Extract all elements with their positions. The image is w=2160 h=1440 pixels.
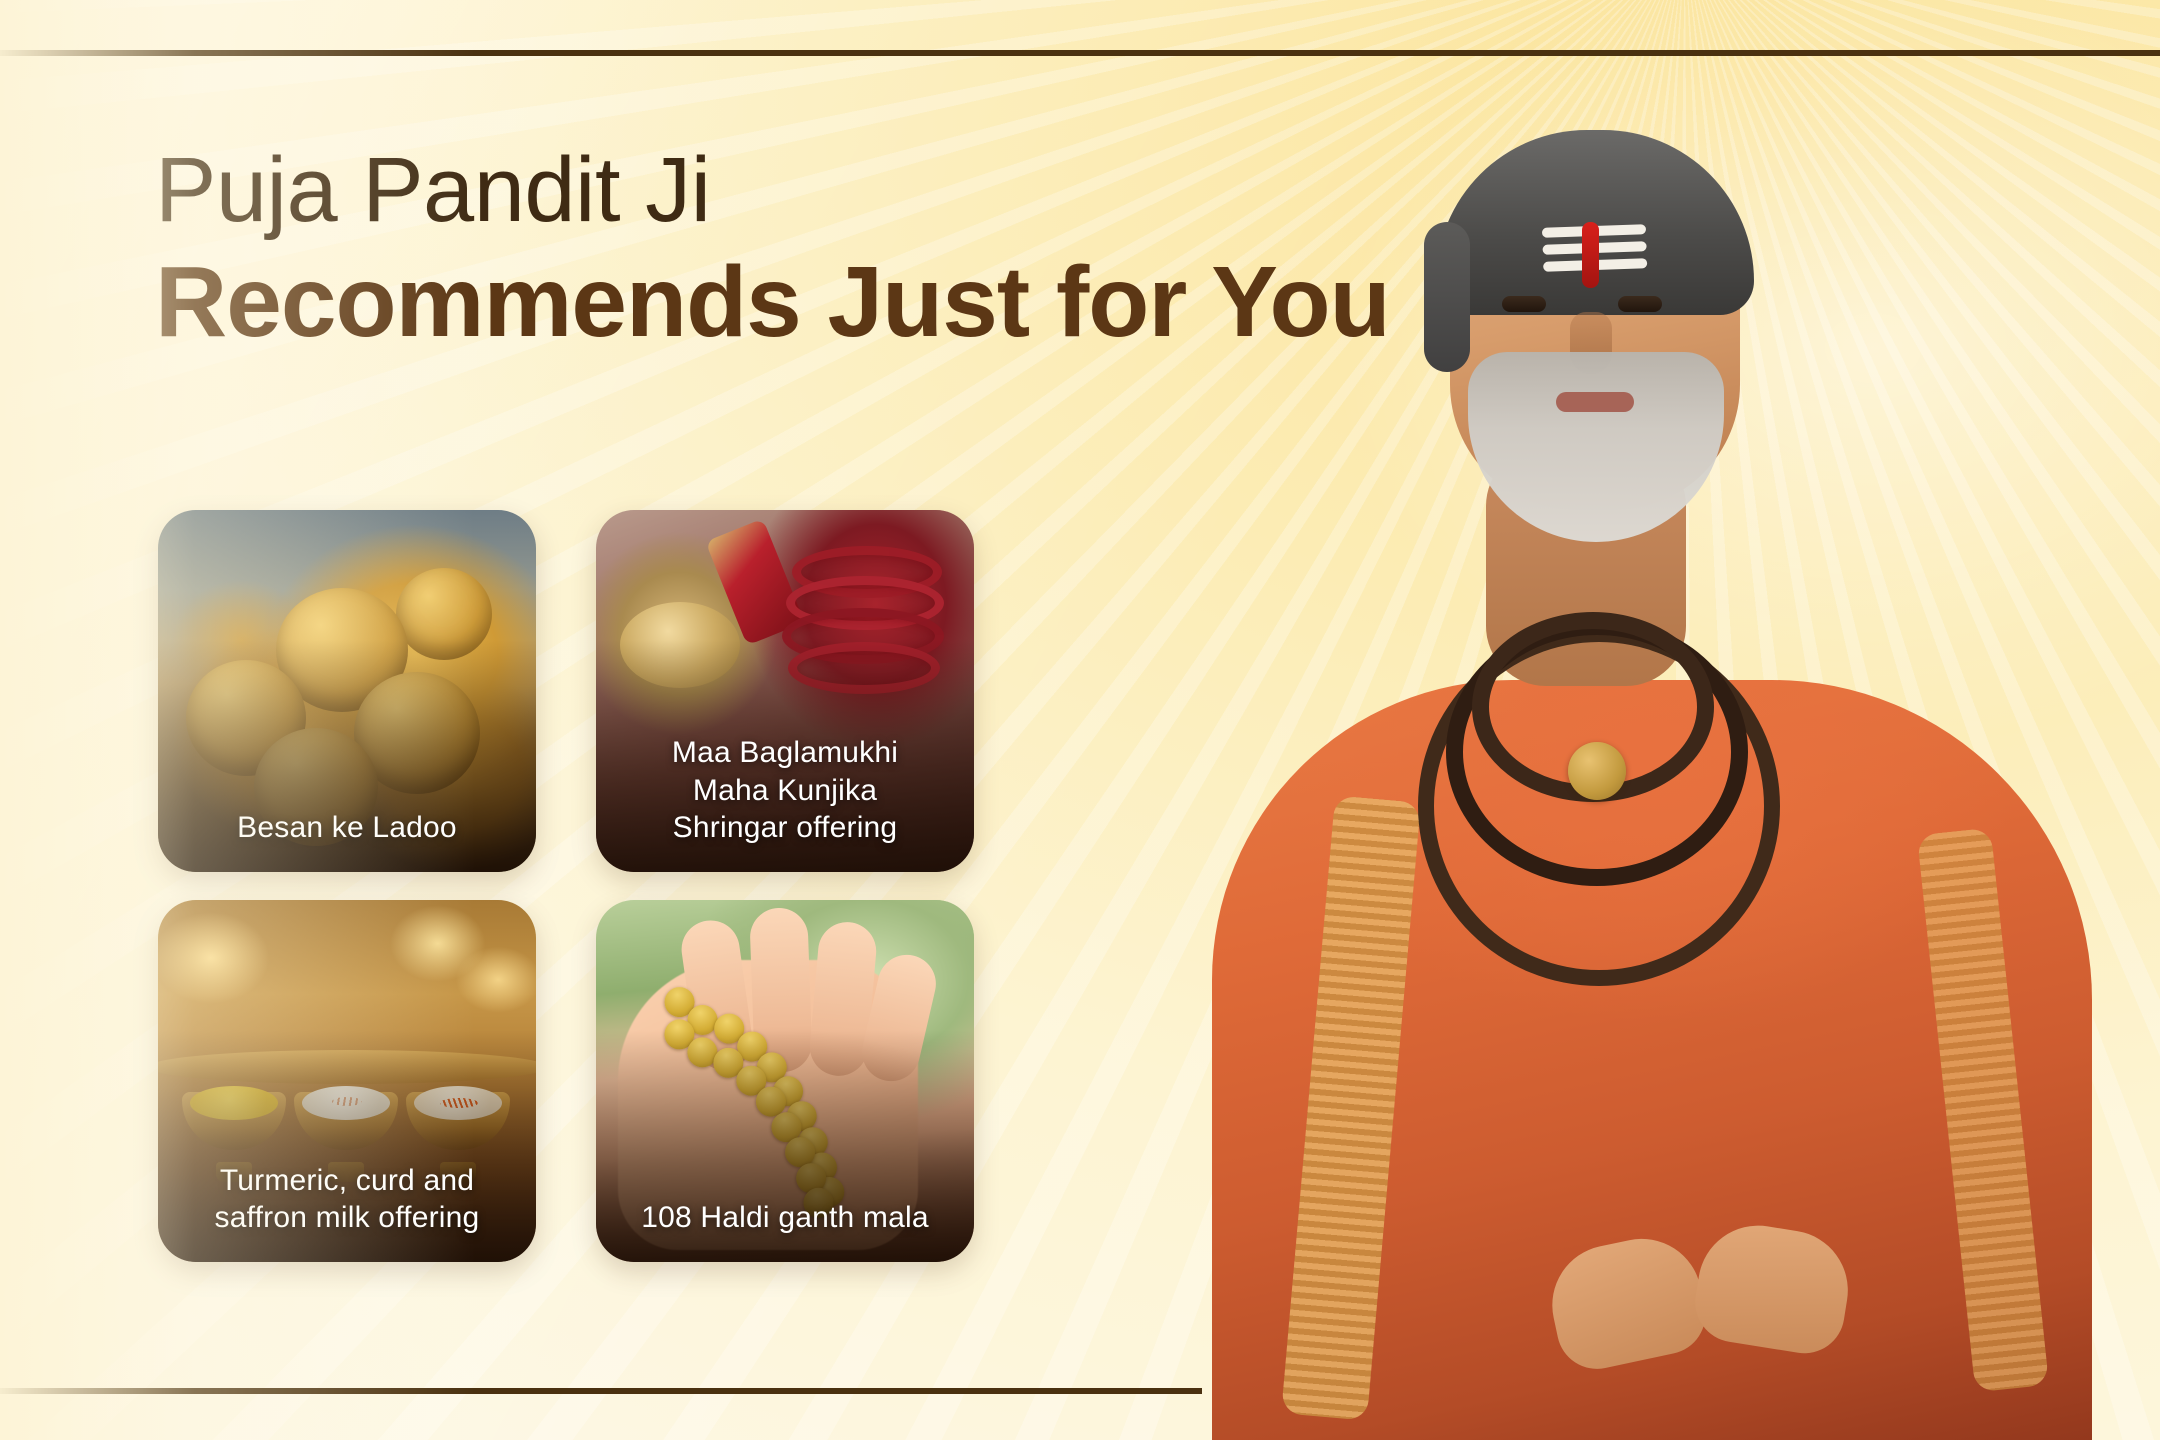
card-label-turmeric-curd-saffron-milk: Turmeric, curd and saffron milk offering	[174, 1162, 520, 1236]
card-label-maa-baglamukhi-shringar: Maa Baglamukhi Maha Kunjika Shringar off…	[612, 734, 958, 846]
card-label-line: 108 Haldi ganth mala	[612, 1199, 958, 1236]
recommendation-card-grid: Besan ke Ladoo Maa Baglamukhi Maha Kunji…	[158, 510, 974, 1262]
card-label-besan-ke-ladoo: Besan ke Ladoo	[174, 809, 520, 846]
bottom-divider-rule	[0, 1388, 1202, 1394]
card-label-108-haldi-ganth-mala: 108 Haldi ganth mala	[612, 1199, 958, 1236]
pandit-ji-portrait	[1150, 0, 2160, 1440]
eye-left	[1502, 296, 1546, 312]
kumkum-tilak-icon	[1582, 222, 1599, 288]
recommendation-card-maa-baglamukhi-shringar[interactable]: Maa Baglamukhi Maha Kunjika Shringar off…	[596, 510, 974, 872]
recommendation-card-turmeric-curd-saffron-milk[interactable]: Turmeric, curd and saffron milk offering	[158, 900, 536, 1262]
mouth	[1556, 392, 1634, 412]
card-label-line: Maa Baglamukhi	[612, 734, 958, 771]
recommendation-card-besan-ke-ladoo[interactable]: Besan ke Ladoo	[158, 510, 536, 872]
card-label-line: saffron milk offering	[174, 1199, 520, 1236]
card-label-line: Shringar offering	[612, 809, 958, 846]
mala-pendant	[1568, 742, 1626, 800]
banner-stage: Puja Pandit Ji Recommends Just for You B…	[0, 0, 2160, 1440]
recommendation-card-108-haldi-ganth-mala[interactable]: 108 Haldi ganth mala	[596, 900, 974, 1262]
card-label-line: Turmeric, curd and	[174, 1162, 520, 1199]
eye-right	[1618, 296, 1662, 312]
card-label-line: Besan ke Ladoo	[174, 809, 520, 846]
card-label-line: Maha Kunjika	[612, 772, 958, 809]
